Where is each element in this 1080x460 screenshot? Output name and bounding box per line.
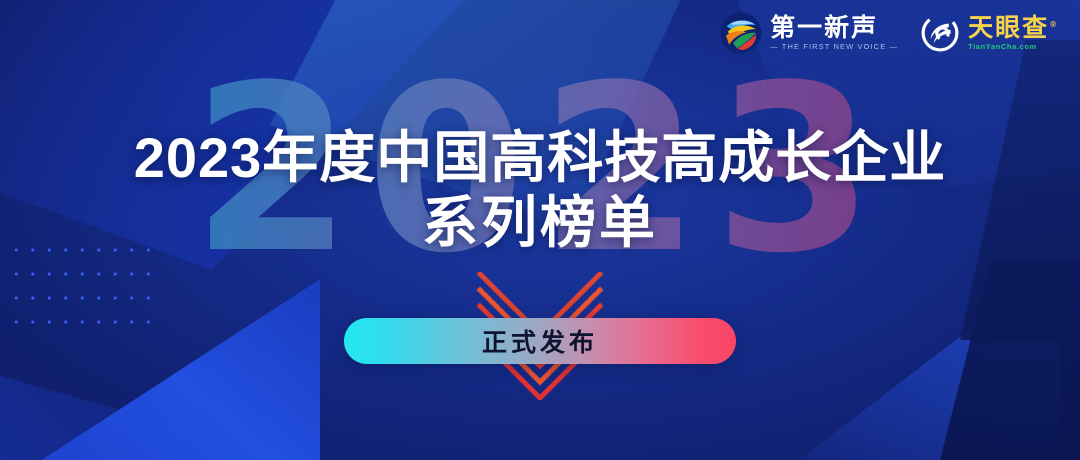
logo-diyixinsheng[interactable]: 第一新声 — THE FIRST NEW VOICE — bbox=[720, 12, 898, 54]
eye-swirl-icon bbox=[920, 13, 960, 53]
headline-block: 2023年度中国高科技高成长企业 系列榜单 bbox=[0, 128, 1080, 255]
logo-bar: 第一新声 — THE FIRST NEW VOICE — 天眼查® TianYa… bbox=[720, 12, 1058, 54]
promo-banner: 2023 第一新声 bbox=[0, 0, 1080, 460]
logo-tianyancha-name: 天眼查® bbox=[968, 15, 1058, 41]
logo-tianyancha-name-cn: 天眼查 bbox=[968, 14, 1049, 42]
headline-line-1: 2023年度中国高科技高成长企业 bbox=[0, 128, 1080, 188]
logo-diyixinsheng-tagline: — THE FIRST NEW VOICE — bbox=[770, 42, 898, 51]
logo-diyixinsheng-text: 第一新声 — THE FIRST NEW VOICE — bbox=[770, 15, 898, 51]
swirl-ribbon-icon bbox=[720, 12, 762, 54]
release-status-label: 正式发布 bbox=[482, 323, 598, 359]
logo-tianyancha-text: 天眼查® TianYanCha.com bbox=[968, 15, 1058, 51]
release-status-pill[interactable]: 正式发布 bbox=[344, 318, 736, 364]
logo-diyixinsheng-name: 第一新声 bbox=[770, 15, 898, 41]
logo-tianyancha-tagline: TianYanCha.com bbox=[968, 42, 1058, 51]
headline-line-2: 系列榜单 bbox=[0, 192, 1080, 255]
registered-trademark-icon: ® bbox=[1050, 20, 1058, 29]
logo-tianyancha[interactable]: 天眼查® TianYanCha.com bbox=[920, 13, 1058, 53]
